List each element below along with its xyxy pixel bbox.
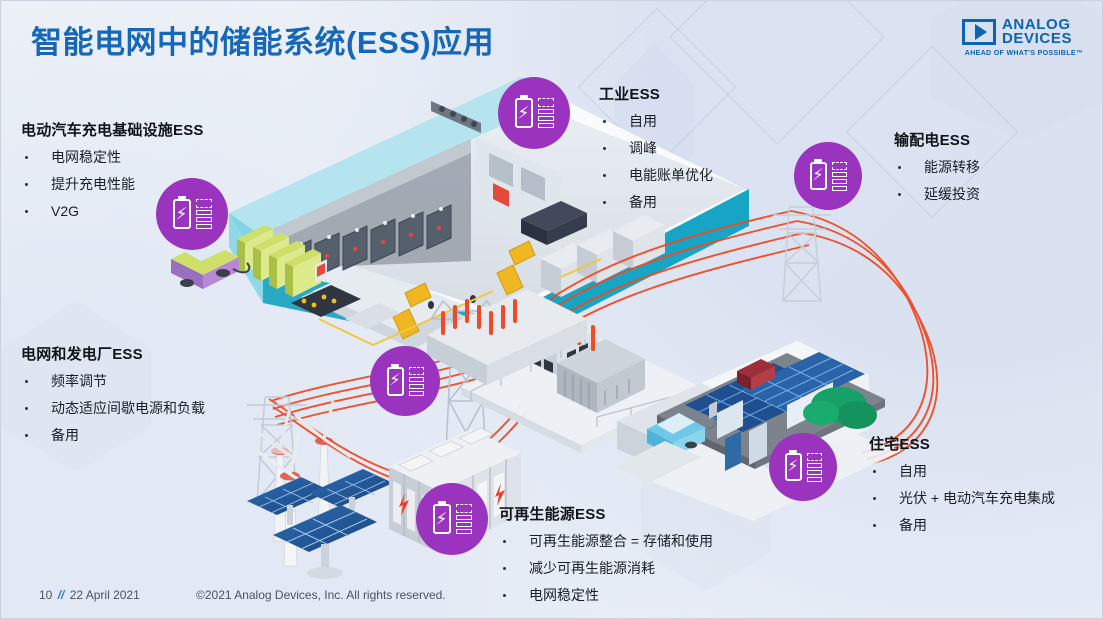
bullet-item: 光伏 + 电动汽车充电集成 — [869, 490, 1055, 506]
battery-rack-icon — [456, 504, 472, 534]
bullet-item: 减少可再生能源消耗 — [499, 560, 713, 576]
footer-separator: // — [56, 588, 67, 602]
battery-bolt-icon: ⚡ — [387, 367, 404, 396]
callout-grid-powerplant: 电网和发电厂ESS 频率调节 动态适应间歇电源和负载 备用 — [21, 343, 205, 454]
callout-residential: 住宅ESS 自用 光伏 + 电动汽车充电集成 备用 — [869, 433, 1055, 544]
callout-industrial: 工业ESS 自用 调峰 电能账单优化 备用 — [599, 83, 713, 221]
bullet-item: V2G — [21, 203, 204, 219]
battery-rack-icon — [409, 367, 424, 396]
callout-ev-charging: 电动汽车充电基础设施ESS 电网稳定性 提升充电性能 V2G — [21, 119, 204, 230]
callout-heading: 工业ESS — [599, 83, 713, 104]
callout-bullet-list: 自用 调峰 电能账单优化 备用 — [599, 113, 713, 210]
bullet-item: 频率调节 — [21, 373, 205, 389]
battery-rack-icon — [832, 162, 847, 191]
footer-date: 22 April 2021 — [70, 588, 140, 602]
badge-industrial: ⚡ — [498, 77, 570, 149]
bullet-item: 自用 — [599, 113, 713, 129]
page-number: 10 // 22 April 2021 — [39, 588, 140, 602]
callout-bullet-list: 电网稳定性 提升充电性能 V2G — [21, 149, 204, 219]
bullet-item: 可再生能源整合 = 存储和使用 — [499, 533, 713, 549]
battery-bolt-icon: ⚡ — [810, 162, 827, 190]
slide-footer: 10 // 22 April 2021 ©2021 Analog Devices… — [1, 588, 1103, 606]
battery-rack-icon — [538, 98, 554, 128]
logo-tagline: AHEAD OF WHAT'S POSSIBLE™ — [962, 50, 1086, 57]
page-number-value: 10 — [39, 588, 52, 602]
battery-rack-icon — [807, 453, 822, 482]
battery-bolt-icon: ⚡ — [785, 453, 802, 481]
bullet-item: 电网稳定性 — [21, 149, 204, 165]
bullet-item: 能源转移 — [894, 159, 980, 175]
callout-heading: 可再生能源ESS — [499, 503, 713, 524]
slide-canvas: 智能电网中的储能系统(ESS)应用 ANALOG DEVICES AHEAD O… — [0, 0, 1103, 619]
callout-heading: 电动汽车充电基础设施ESS — [21, 119, 204, 140]
bullet-item: 备用 — [21, 427, 205, 443]
analog-devices-logo: ANALOG DEVICES AHEAD OF WHAT'S POSSIBLE™ — [962, 17, 1086, 65]
bullet-item: 动态适应间歇电源和负载 — [21, 400, 205, 416]
callout-bullet-list: 频率调节 动态适应间歇电源和负载 备用 — [21, 373, 205, 443]
badge-renewable: ⚡ — [416, 483, 488, 555]
page-title: 智能电网中的储能系统(ESS)应用 — [31, 17, 494, 62]
bullet-item: 电能账单优化 — [599, 167, 713, 183]
bullet-item: 备用 — [869, 517, 1055, 533]
callout-heading: 输配电ESS — [894, 129, 980, 150]
callout-heading: 电网和发电厂ESS — [21, 343, 205, 364]
bullet-item: 调峰 — [599, 140, 713, 156]
bullet-item: 延缓投资 — [894, 186, 980, 202]
badge-residential: ⚡ — [769, 433, 837, 501]
bullet-item: 自用 — [869, 463, 1055, 479]
callout-transmission: 输配电ESS 能源转移 延缓投资 — [894, 129, 980, 213]
bullet-item: 备用 — [599, 194, 713, 210]
copyright-notice: ©2021 Analog Devices, Inc. All rights re… — [196, 588, 446, 602]
badge-transmission: ⚡ — [794, 142, 862, 210]
adi-triangle-icon — [962, 19, 996, 45]
callout-bullet-list: 能源转移 延缓投资 — [894, 159, 980, 202]
bullet-item: 提升充电性能 — [21, 176, 204, 192]
callout-bullet-list: 自用 光伏 + 电动汽车充电集成 备用 — [869, 463, 1055, 533]
battery-bolt-icon: ⚡ — [515, 98, 533, 128]
badge-grid-powerplant: ⚡ — [370, 346, 440, 416]
callout-heading: 住宅ESS — [869, 433, 1055, 454]
battery-bolt-icon: ⚡ — [433, 504, 451, 534]
logo-word-devices: DEVICES — [1002, 32, 1072, 46]
